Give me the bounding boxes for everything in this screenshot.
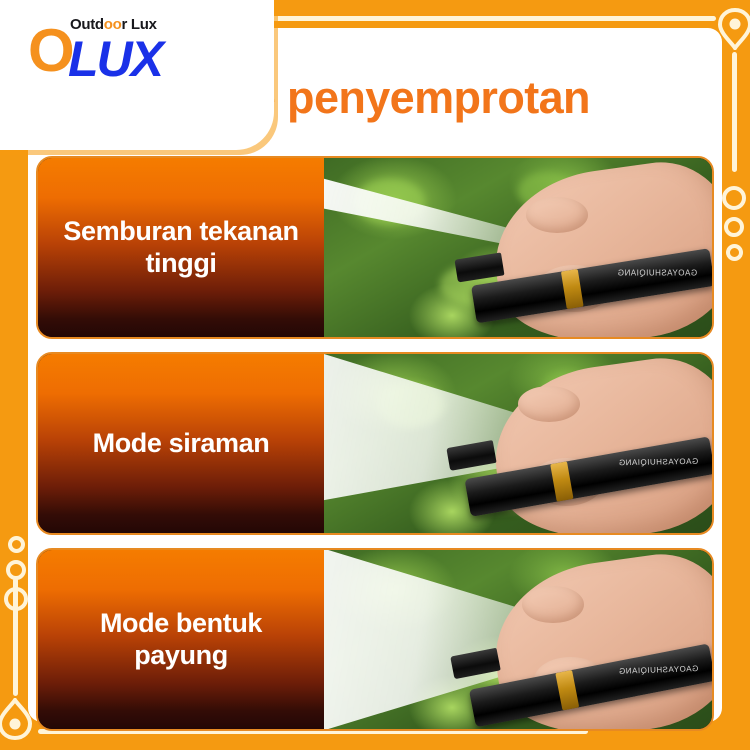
brand-logo-badge: O Outdoor Lux LUX [0,0,274,150]
mode-card-label: Mode siraman [38,354,324,533]
map-pin-icon-top-right [718,8,750,50]
mode-card: Semburan tekanan tinggi GAOYASHUIQIANG [36,156,714,339]
decor-dot [726,244,743,261]
mode-card-label-text: Mode siraman [93,428,270,460]
mode-card-label: Mode bentuk payung [38,550,324,729]
mode-card: Mode bentuk payung GAOYASHUIQIANG [36,548,714,731]
decor-dot [722,186,746,210]
finger-graphic [526,197,588,233]
finger-graphic [518,386,580,422]
mode-card-photo: GAOYASHUIQIANG [324,158,712,337]
nozzle-gold-ring [555,670,579,710]
finger-graphic [522,586,584,624]
nozzle-brand-text: GAOYASHUIQIANG [618,268,698,277]
logo-wordmark: LUX [68,34,162,84]
mode-card-label: Semburan tekanan tinggi [38,158,324,337]
nozzle-gold-ring [550,462,574,502]
decor-dot [8,536,25,553]
mode-card: Mode siraman GAOYASHUIQIANG [36,352,714,535]
poster-root: O Outdoor Lux LUX Mode penyemprotan Semb… [0,0,750,750]
logo-o-mark: O [28,22,73,80]
nozzle-gold-ring [562,268,584,308]
decor-dot [724,217,744,237]
decor-dots-left [4,536,28,611]
mode-card-label-text: Semburan tekanan tinggi [54,216,308,280]
mode-card-label-text: Mode bentuk payung [54,608,308,672]
decor-dot [6,560,26,580]
nozzle-brand-text: GAOYASHUIQIANG [618,664,698,676]
mode-card-photo: GAOYASHUIQIANG [324,354,712,533]
brand-logo: O Outdoor Lux LUX [28,12,248,84]
decor-dot [4,587,28,611]
nozzle-brand-text: GAOYASHUIQIANG [618,457,698,467]
mode-card-photo: GAOYASHUIQIANG [324,550,712,729]
decor-dots-right [722,186,746,261]
